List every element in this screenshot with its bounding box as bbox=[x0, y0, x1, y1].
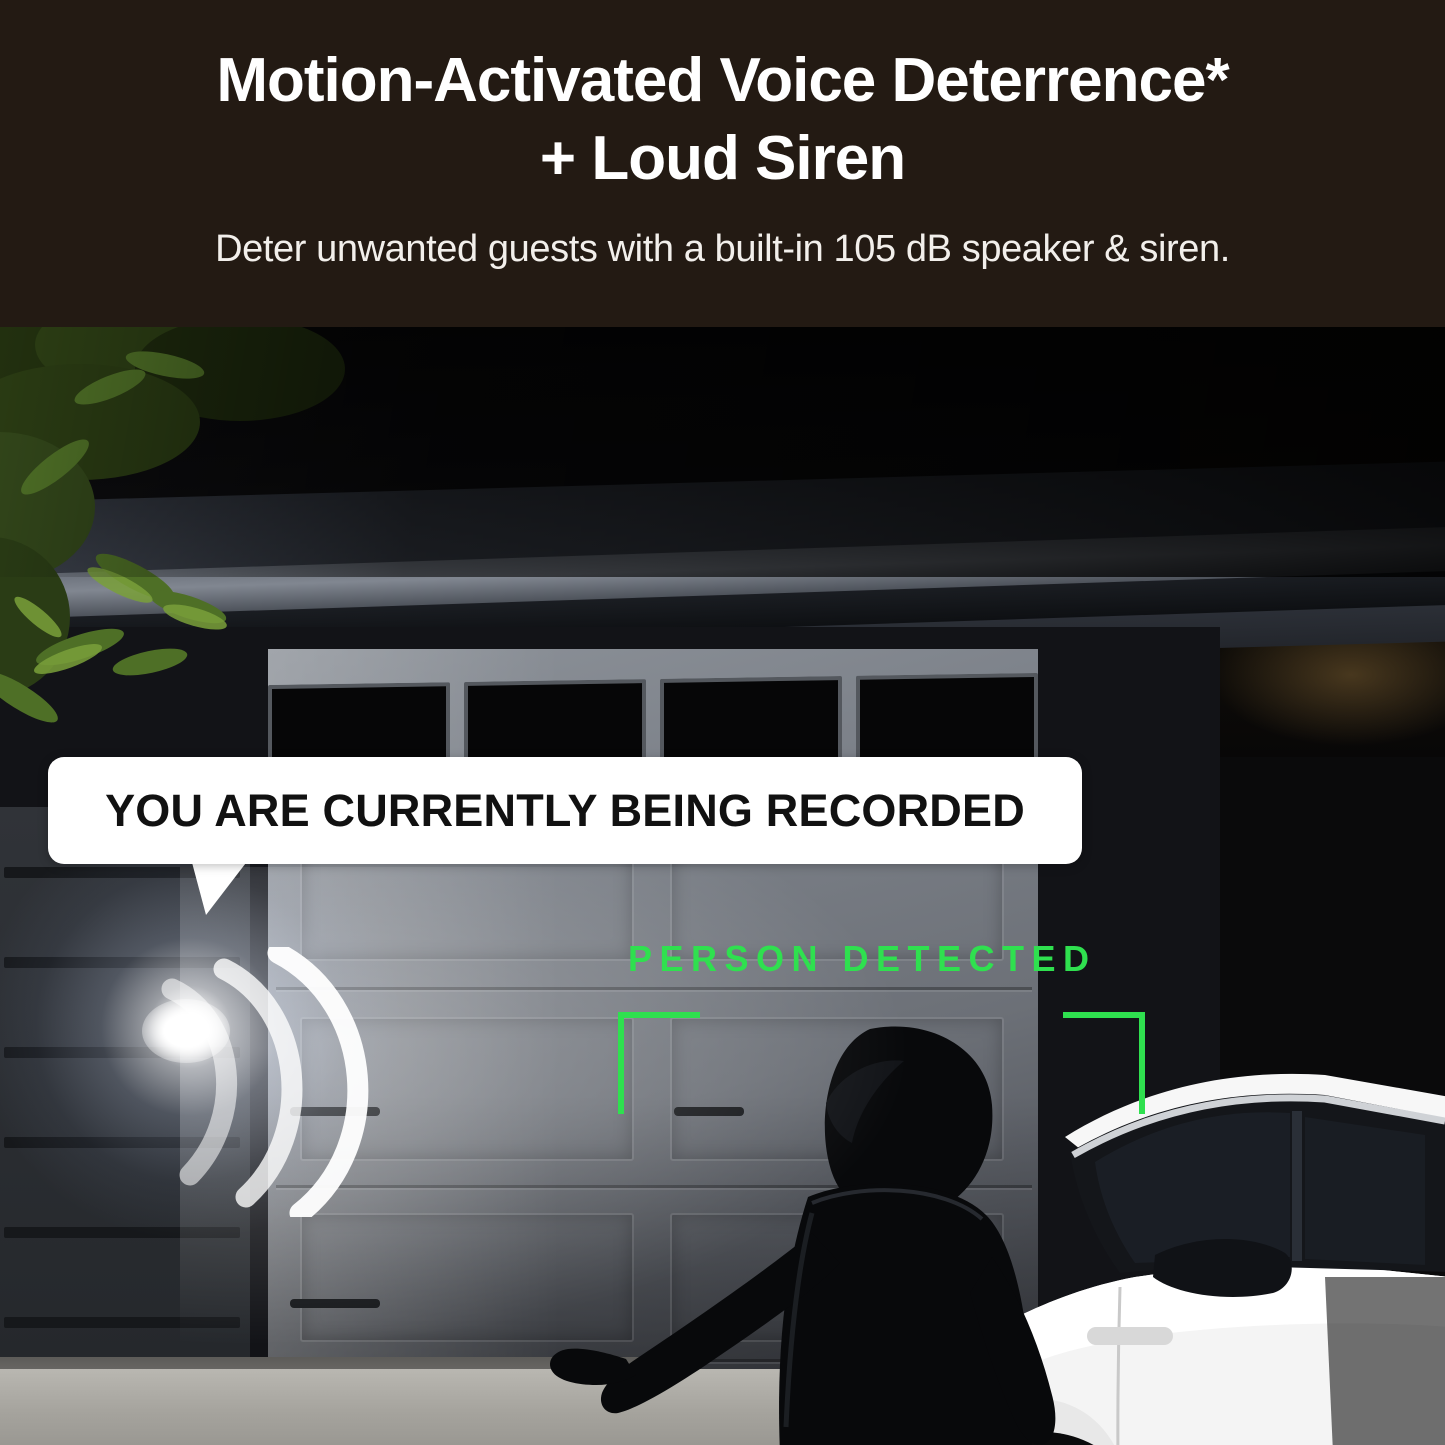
detection-label: PERSON DETECTED bbox=[628, 938, 1097, 980]
walkway bbox=[0, 1369, 1445, 1445]
garage-panel bbox=[300, 1213, 634, 1342]
security-camera-scene: YOU ARE CURRENTLY BEING RECORDED PERSON … bbox=[0, 327, 1445, 1445]
header-banner: Motion-Activated Voice Deterrence* + Lou… bbox=[0, 0, 1445, 327]
garage-hardware bbox=[674, 1107, 744, 1116]
garage-hardware bbox=[290, 1299, 380, 1308]
speech-bubble: YOU ARE CURRENTLY BEING RECORDED bbox=[48, 757, 1082, 864]
title-line-2: + Loud Siren bbox=[63, 120, 1383, 198]
header-subtitle: Deter unwanted guests with a built-in 10… bbox=[0, 226, 1445, 272]
marketing-graphic: Motion-Activated Voice Deterrence* + Lou… bbox=[0, 0, 1445, 1445]
title-line-1: Motion-Activated Voice Deterrence* bbox=[216, 46, 1228, 115]
garage-panel bbox=[300, 1017, 634, 1161]
garage-hardware bbox=[290, 1107, 380, 1116]
garage-panel bbox=[670, 1017, 1004, 1161]
speech-bubble-tail bbox=[190, 855, 270, 917]
floodlight-source bbox=[142, 999, 230, 1063]
page-title: Motion-Activated Voice Deterrence* + Lou… bbox=[63, 42, 1383, 198]
speech-bubble-text: YOU ARE CURRENTLY BEING RECORDED bbox=[105, 785, 1025, 837]
garage-panel bbox=[670, 1213, 1004, 1342]
